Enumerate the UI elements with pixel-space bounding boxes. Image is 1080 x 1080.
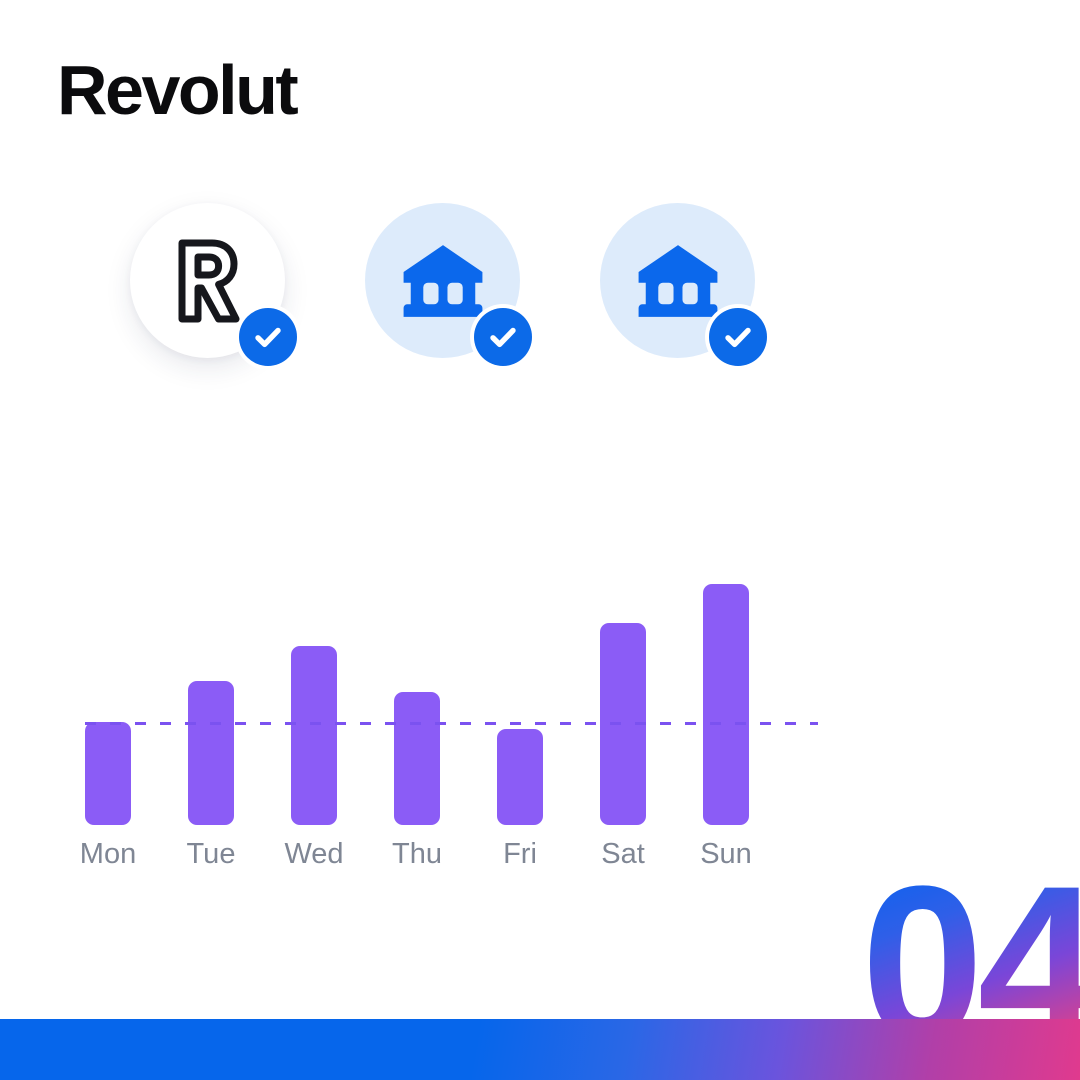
revolut-r-logo-icon	[160, 233, 256, 329]
bar-wed[interactable]	[291, 646, 337, 825]
check-icon	[721, 320, 755, 354]
check-circle-icon	[474, 308, 532, 366]
account-chip-bank-2[interactable]	[600, 203, 755, 358]
axis-label-fri: Fri	[470, 840, 570, 869]
average-dashed-line	[85, 722, 818, 725]
check-circle-icon	[709, 308, 767, 366]
check-icon	[251, 320, 285, 354]
verified-badge	[705, 304, 771, 370]
check-circle-icon	[239, 308, 297, 366]
axis-label-tue: Tue	[161, 840, 261, 869]
bar-sun[interactable]	[703, 584, 749, 825]
bank-icon	[635, 238, 721, 324]
bar-fri[interactable]	[497, 729, 543, 825]
account-chip-bank-1[interactable]	[365, 203, 520, 358]
x-axis-labels: MonTueWedThuFriSatSun	[85, 840, 825, 880]
verified-badge	[470, 304, 536, 370]
linked-accounts-row	[130, 203, 830, 389]
bottom-gradient-band	[0, 1019, 1080, 1080]
slide-canvas: Revolut	[0, 0, 1080, 1080]
axis-label-wed: Wed	[264, 840, 364, 869]
bar-mon[interactable]	[85, 722, 131, 825]
axis-label-sat: Sat	[573, 840, 673, 869]
weekly-bar-chart	[85, 550, 825, 825]
verified-badge	[235, 304, 301, 370]
revolut-wordmark: Revolut	[57, 55, 296, 125]
bar-tue[interactable]	[188, 681, 234, 825]
bar-thu[interactable]	[394, 692, 440, 825]
axis-label-sun: Sun	[676, 840, 776, 869]
check-icon	[486, 320, 520, 354]
bank-icon	[400, 238, 486, 324]
axis-label-mon: Mon	[58, 840, 158, 869]
account-chip-revolut[interactable]	[130, 203, 285, 358]
axis-label-thu: Thu	[367, 840, 467, 869]
